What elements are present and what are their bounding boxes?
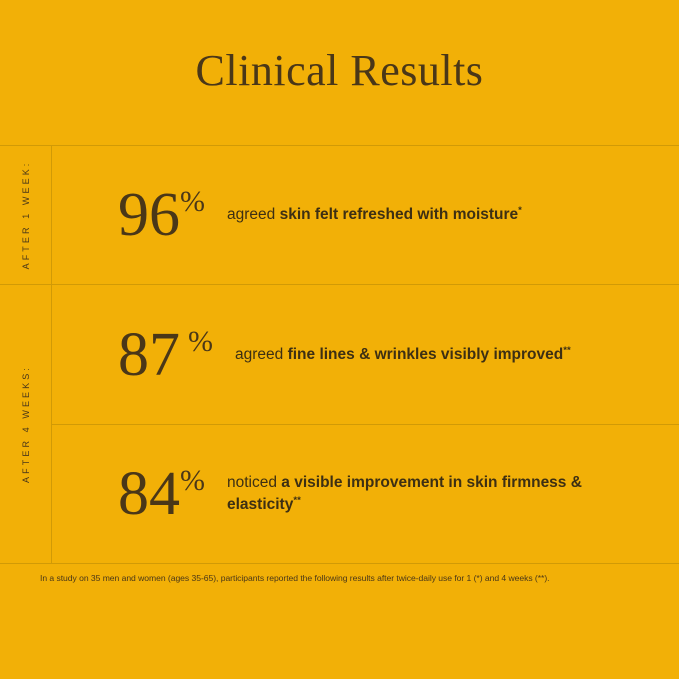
footnote-marker: ** (563, 344, 570, 355)
page-header: Clinical Results (0, 0, 679, 145)
stat-row: 87% agreed fine lines & wrinkles visibly… (52, 285, 679, 424)
results-group-week-1: AFTER 1 WEEK: 96% agreed skin felt refre… (0, 146, 679, 285)
stat-row: 84% noticed a visible improvement in ski… (52, 424, 679, 563)
percent-symbol: % (188, 327, 213, 357)
percent-symbol: % (180, 466, 205, 496)
stat-description: agreed fine lines & wrinkles visibly imp… (235, 344, 571, 366)
stat-value-84: 84% (118, 463, 205, 525)
stat-value-87: 87% (118, 324, 213, 386)
stat-emphasis: skin felt refreshed with moisture (280, 206, 519, 223)
percent-symbol: % (180, 187, 205, 217)
group-rows-week-4: 87% agreed fine lines & wrinkles visibly… (52, 285, 679, 563)
clinical-results-panel: Clinical Results AFTER 1 WEEK: 96% agree… (0, 0, 679, 679)
stat-description: agreed skin felt refreshed with moisture… (227, 204, 522, 226)
footnote-marker: * (518, 205, 522, 216)
group-label-week-4-text: AFTER 4 WEEKS: (21, 365, 31, 483)
results-group-week-4: AFTER 4 WEEKS: 87% agreed fine lines & w… (0, 285, 679, 563)
study-footnote: In a study on 35 men and women (ages 35-… (0, 573, 679, 584)
group-rows-week-1: 96% agreed skin felt refreshed with mois… (52, 146, 679, 284)
stat-digits: 96 (118, 184, 180, 246)
stat-lead: noticed (227, 474, 281, 491)
stat-digits: 84 (118, 463, 180, 525)
group-label-week-1-text: AFTER 1 WEEK: (21, 161, 31, 270)
stat-emphasis: fine lines & wrinkles visibly improved (288, 346, 564, 363)
stat-digits: 87 (118, 324, 180, 386)
stat-emphasis: a visible improvement in skin firmness &… (227, 474, 582, 513)
group-label-week-4: AFTER 4 WEEKS: (0, 285, 52, 563)
footnote-marker: ** (293, 495, 300, 506)
stat-lead: agreed (227, 206, 280, 223)
stat-row: 96% agreed skin felt refreshed with mois… (52, 146, 679, 284)
page-title: Clinical Results (196, 49, 484, 97)
stat-description: noticed a visible improvement in skin fi… (227, 472, 647, 516)
results-table: AFTER 1 WEEK: 96% agreed skin felt refre… (0, 145, 679, 564)
stat-value-96: 96% (118, 184, 205, 246)
group-label-week-1: AFTER 1 WEEK: (0, 146, 52, 284)
stat-lead: agreed (235, 346, 288, 363)
